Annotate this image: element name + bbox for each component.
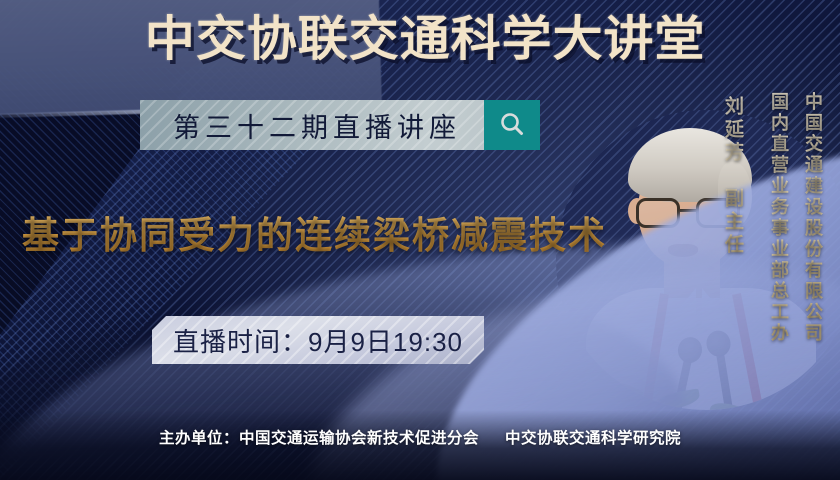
page-title: 中交协联交通科学大讲堂 — [0, 16, 840, 64]
search-icon — [497, 110, 527, 140]
speaker-name-title: 刘延芳 副主任 — [719, 96, 746, 257]
footer-org-1: 中国交通运输协会新技术促进分会 — [239, 430, 479, 447]
episode-bar: 第三十二期直播讲座 — [140, 100, 540, 150]
footer-prefix: 主办单位： — [159, 430, 239, 447]
broadcast-time-text: 直播时间：9月9日19:30 — [173, 322, 463, 359]
live-lecture-poster: 中交协联交通科学大讲堂 第三十二期直播讲座 基于协同受力的连续梁桥减震技术 直播… — [0, 0, 840, 480]
lecture-title: 基于协同受力的连续梁桥减震技术 — [22, 205, 607, 259]
speaker-company: 中国交通建设股份有限公司 — [800, 92, 826, 344]
broadcast-time-badge: 直播时间：9月9日19:30 — [152, 316, 484, 364]
footer-org-2: 中交协联交通科学研究院 — [505, 430, 681, 447]
episode-label: 第三十二期直播讲座 — [140, 106, 484, 145]
search-button[interactable] — [484, 100, 540, 150]
footer-organizers: 主办单位：中国交通运输协会新技术促进分会中交协联交通科学研究院 — [0, 426, 840, 448]
speaker-department: 国内直营业务事业部总工办 — [766, 92, 792, 344]
